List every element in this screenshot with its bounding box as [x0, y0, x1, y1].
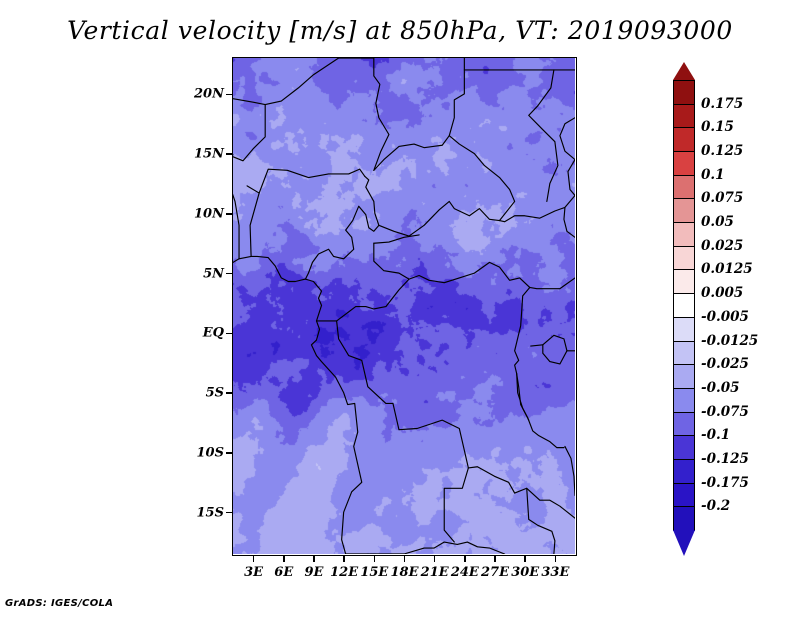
colorbar-band — [673, 483, 695, 508]
colorbar-band — [673, 104, 695, 129]
x-axis-tick — [464, 556, 466, 562]
colorbar-tick-label: -0.175 — [701, 475, 749, 491]
x-axis-tick — [343, 556, 345, 562]
colorbar-band — [673, 80, 695, 105]
colorbar-band — [673, 175, 695, 200]
colorbar-band — [673, 506, 695, 531]
y-axis-tick — [226, 333, 232, 335]
map-plot-area — [232, 57, 577, 556]
colorbar-band — [673, 198, 695, 223]
vertical-velocity-field — [233, 58, 575, 554]
colorbar-band — [673, 435, 695, 460]
colorbar-band — [673, 341, 695, 366]
colorbar-band — [673, 269, 695, 294]
colorbar-tick-label: 0.005 — [701, 285, 743, 301]
x-axis-label: 21E — [421, 565, 449, 580]
colorbar-extend-max-arrow — [673, 62, 695, 80]
y-axis-tick — [226, 153, 232, 155]
colorbar-band — [673, 412, 695, 437]
x-axis-label: 30E — [511, 565, 539, 580]
colorbar-band — [673, 364, 695, 389]
colorbar-band — [673, 246, 695, 271]
x-axis-label: 15E — [360, 565, 388, 580]
y-axis-label: 15S — [180, 505, 224, 520]
y-axis-label: 20N — [180, 87, 224, 102]
x-axis-tick — [253, 556, 255, 562]
y-axis-label: 10S — [180, 445, 224, 460]
y-axis-tick — [226, 273, 232, 275]
y-axis-tick — [226, 94, 232, 96]
colorbar-tick-label: -0.025 — [701, 356, 749, 372]
x-axis-tick — [494, 556, 496, 562]
colorbar-tick-label: 0.125 — [701, 143, 743, 159]
colorbar-tick-label: -0.075 — [701, 404, 749, 420]
x-axis-label: 3E — [244, 565, 263, 580]
colorbar-tick-label: 0.0125 — [701, 261, 753, 277]
y-axis-label: 5N — [180, 266, 224, 281]
x-axis-tick — [434, 556, 436, 562]
colorbar-tick-label: -0.0125 — [701, 333, 758, 349]
y-axis-label: 10N — [180, 206, 224, 221]
x-axis-label: 24E — [451, 565, 479, 580]
colorbar-tick-label: 0.1 — [701, 167, 725, 183]
colorbar-band — [673, 293, 695, 318]
x-axis-label: 6E — [274, 565, 293, 580]
y-axis-label: 15N — [180, 147, 224, 162]
y-axis-label: 5S — [180, 386, 224, 401]
x-axis-tick — [374, 556, 376, 562]
x-axis-label: 33E — [541, 565, 569, 580]
colorbar-band — [673, 388, 695, 413]
x-axis-tick — [524, 556, 526, 562]
y-axis-tick — [226, 392, 232, 394]
y-axis-tick — [226, 213, 232, 215]
y-axis-tick — [226, 512, 232, 514]
grads-credit: GrADS: IGES/COLA — [5, 598, 113, 609]
x-axis-label: 27E — [481, 565, 509, 580]
colorbar-band — [673, 222, 695, 247]
colorbar-extend-min-arrow — [673, 530, 695, 556]
x-axis-tick — [313, 556, 315, 562]
colorbar-band — [673, 127, 695, 152]
x-axis-tick — [555, 556, 557, 562]
colorbar-tick-label: 0.175 — [701, 96, 743, 112]
y-axis-label: EQ — [180, 326, 224, 341]
x-axis-label: 18E — [391, 565, 419, 580]
colorbar-tick-label: 0.025 — [701, 238, 743, 254]
colorbar-tick-label: -0.2 — [701, 498, 730, 514]
colorbar: 0.1750.150.1250.10.0750.050.0250.01250.0… — [673, 62, 695, 556]
x-axis-label: 9E — [304, 565, 323, 580]
page-title: Vertical velocity [m/s] at 850hPa, VT: 2… — [0, 16, 800, 45]
colorbar-tick-label: -0.1 — [701, 427, 730, 443]
colorbar-tick-label: -0.05 — [701, 380, 739, 396]
x-axis-label: 12E — [330, 565, 358, 580]
y-axis-tick — [226, 452, 232, 454]
x-axis-tick — [404, 556, 406, 562]
colorbar-tick-label: 0.05 — [701, 214, 734, 230]
colorbar-band — [673, 459, 695, 484]
colorbar-tick-label: -0.125 — [701, 451, 749, 467]
colorbar-tick-label: 0.075 — [701, 190, 743, 206]
colorbar-tick-label: 0.15 — [701, 119, 734, 135]
colorbar-tick-label: -0.005 — [701, 309, 749, 325]
x-axis-tick — [283, 556, 285, 562]
colorbar-band — [673, 317, 695, 342]
colorbar-band — [673, 151, 695, 176]
